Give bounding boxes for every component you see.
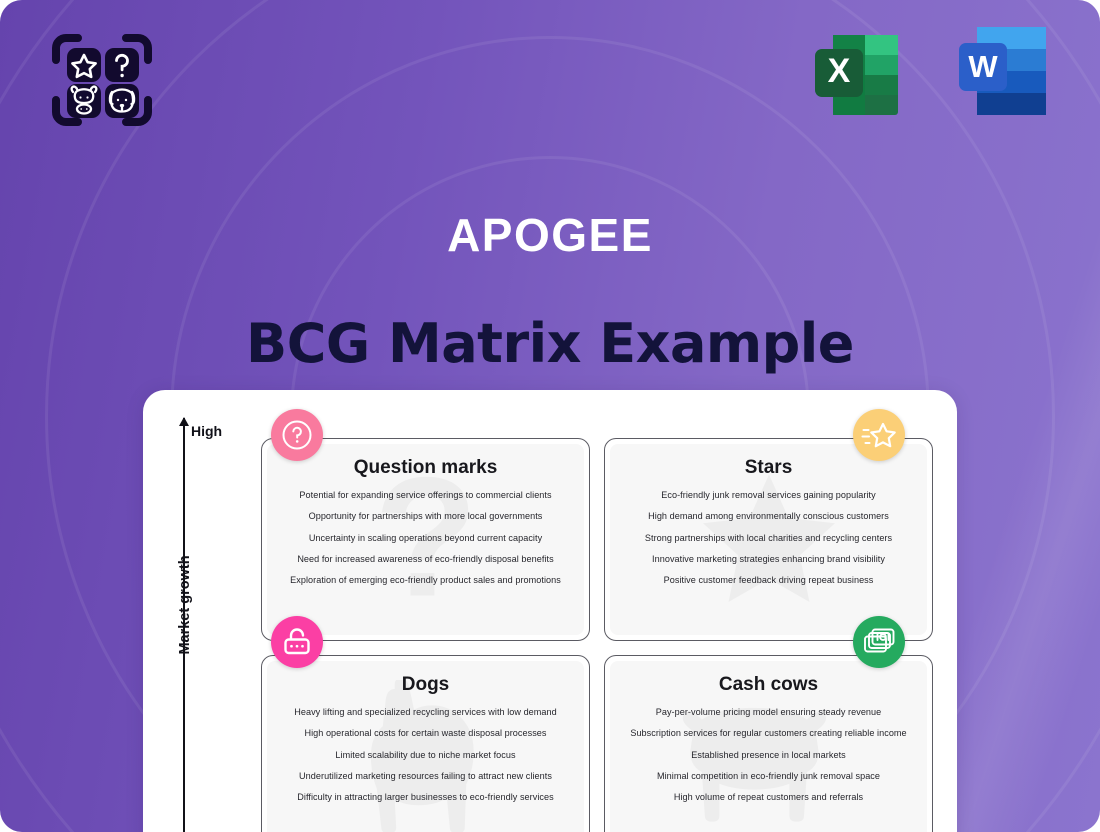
unlock-padlock-icon — [281, 625, 313, 659]
list-item: Strong partnerships with local charities… — [622, 533, 915, 544]
money-stack-icon — [862, 626, 896, 658]
quadrant-title: Stars — [622, 457, 915, 479]
bcg-matrix-card: High Market growth ? Question marks Pote… — [143, 390, 957, 832]
list-item: Potential for expanding service offering… — [279, 490, 572, 501]
matrix-grid: ? Question marks Potential for expanding… — [261, 438, 933, 832]
badge-cash-cows[interactable] — [853, 616, 905, 668]
y-axis-high-label: High — [191, 423, 222, 439]
list-item: High operational costs for certain waste… — [279, 728, 572, 739]
list-item: Minimal competition in eco-friendly junk… — [622, 771, 915, 782]
page-title: BCG Matrix Example — [0, 312, 1100, 375]
quadrant-stars[interactable]: Stars Eco-friendly junk removal services… — [604, 438, 933, 641]
list-item: Innovative marketing strategies enhancin… — [622, 554, 915, 565]
question-mark-circle-icon — [280, 418, 314, 452]
svg-text:W: W — [968, 49, 998, 84]
list-item: Heavy lifting and specialized recycling … — [279, 707, 572, 718]
list-item: Positive customer feedback driving repea… — [622, 575, 915, 586]
list-item: Eco-friendly junk removal services gaini… — [622, 490, 915, 501]
quadrant-title: Dogs — [279, 674, 572, 696]
office-app-icons: X W — [802, 18, 1058, 130]
microsoft-excel-icon[interactable]: X — [802, 18, 914, 130]
list-item: Need for increased awareness of eco-frie… — [279, 554, 572, 565]
quadrant-title: Cash cows — [622, 674, 915, 696]
badge-stars[interactable] — [853, 409, 905, 461]
quadrant-item-list: Heavy lifting and specialized recycling … — [279, 707, 572, 804]
list-item: Underutilized marketing resources failin… — [279, 771, 572, 782]
microsoft-word-icon[interactable]: W — [946, 18, 1058, 130]
quadrant-item-list: Eco-friendly junk removal services gaini… — [622, 490, 915, 587]
list-item: Uncertainty in scaling operations beyond… — [279, 533, 572, 544]
brand-name: APOGEE — [0, 208, 1100, 262]
list-item: High volume of repeat customers and refe… — [622, 792, 915, 803]
list-item: Pay-per-volume pricing model ensuring st… — [622, 707, 915, 718]
svg-text:X: X — [828, 52, 851, 90]
y-axis-title: Market growth — [177, 555, 193, 654]
quadrant-item-list: Pay-per-volume pricing model ensuring st… — [622, 707, 915, 804]
quadrant-title: Question marks — [279, 457, 572, 479]
list-item: Exploration of emerging eco-friendly pro… — [279, 575, 572, 586]
poster-canvas: X W APOGEE BCG Matrix Example High Marke… — [0, 0, 1100, 832]
list-item: Opportunity for partnerships with more l… — [279, 511, 572, 522]
badge-dogs[interactable] — [271, 616, 323, 668]
badge-question-marks[interactable] — [271, 409, 323, 461]
list-item: Difficulty in attracting larger business… — [279, 792, 572, 803]
list-item: Subscription services for regular custom… — [622, 728, 915, 739]
list-item: Established presence in local markets — [622, 750, 915, 761]
list-item: Limited scalability due to niche market … — [279, 750, 572, 761]
apogee-logo[interactable] — [48, 28, 156, 132]
quadrant-question-marks[interactable]: ? Question marks Potential for expanding… — [261, 438, 590, 641]
quadrant-item-list: Potential for expanding service offering… — [279, 490, 572, 587]
quadrant-dogs[interactable]: Dogs Heavy lifting and specialized recyc… — [261, 655, 590, 832]
star-icon — [861, 418, 897, 452]
list-item: High demand among environmentally consci… — [622, 511, 915, 522]
quadrant-cash-cows[interactable]: Cash cows Pay-per-volume pricing model e… — [604, 655, 933, 832]
